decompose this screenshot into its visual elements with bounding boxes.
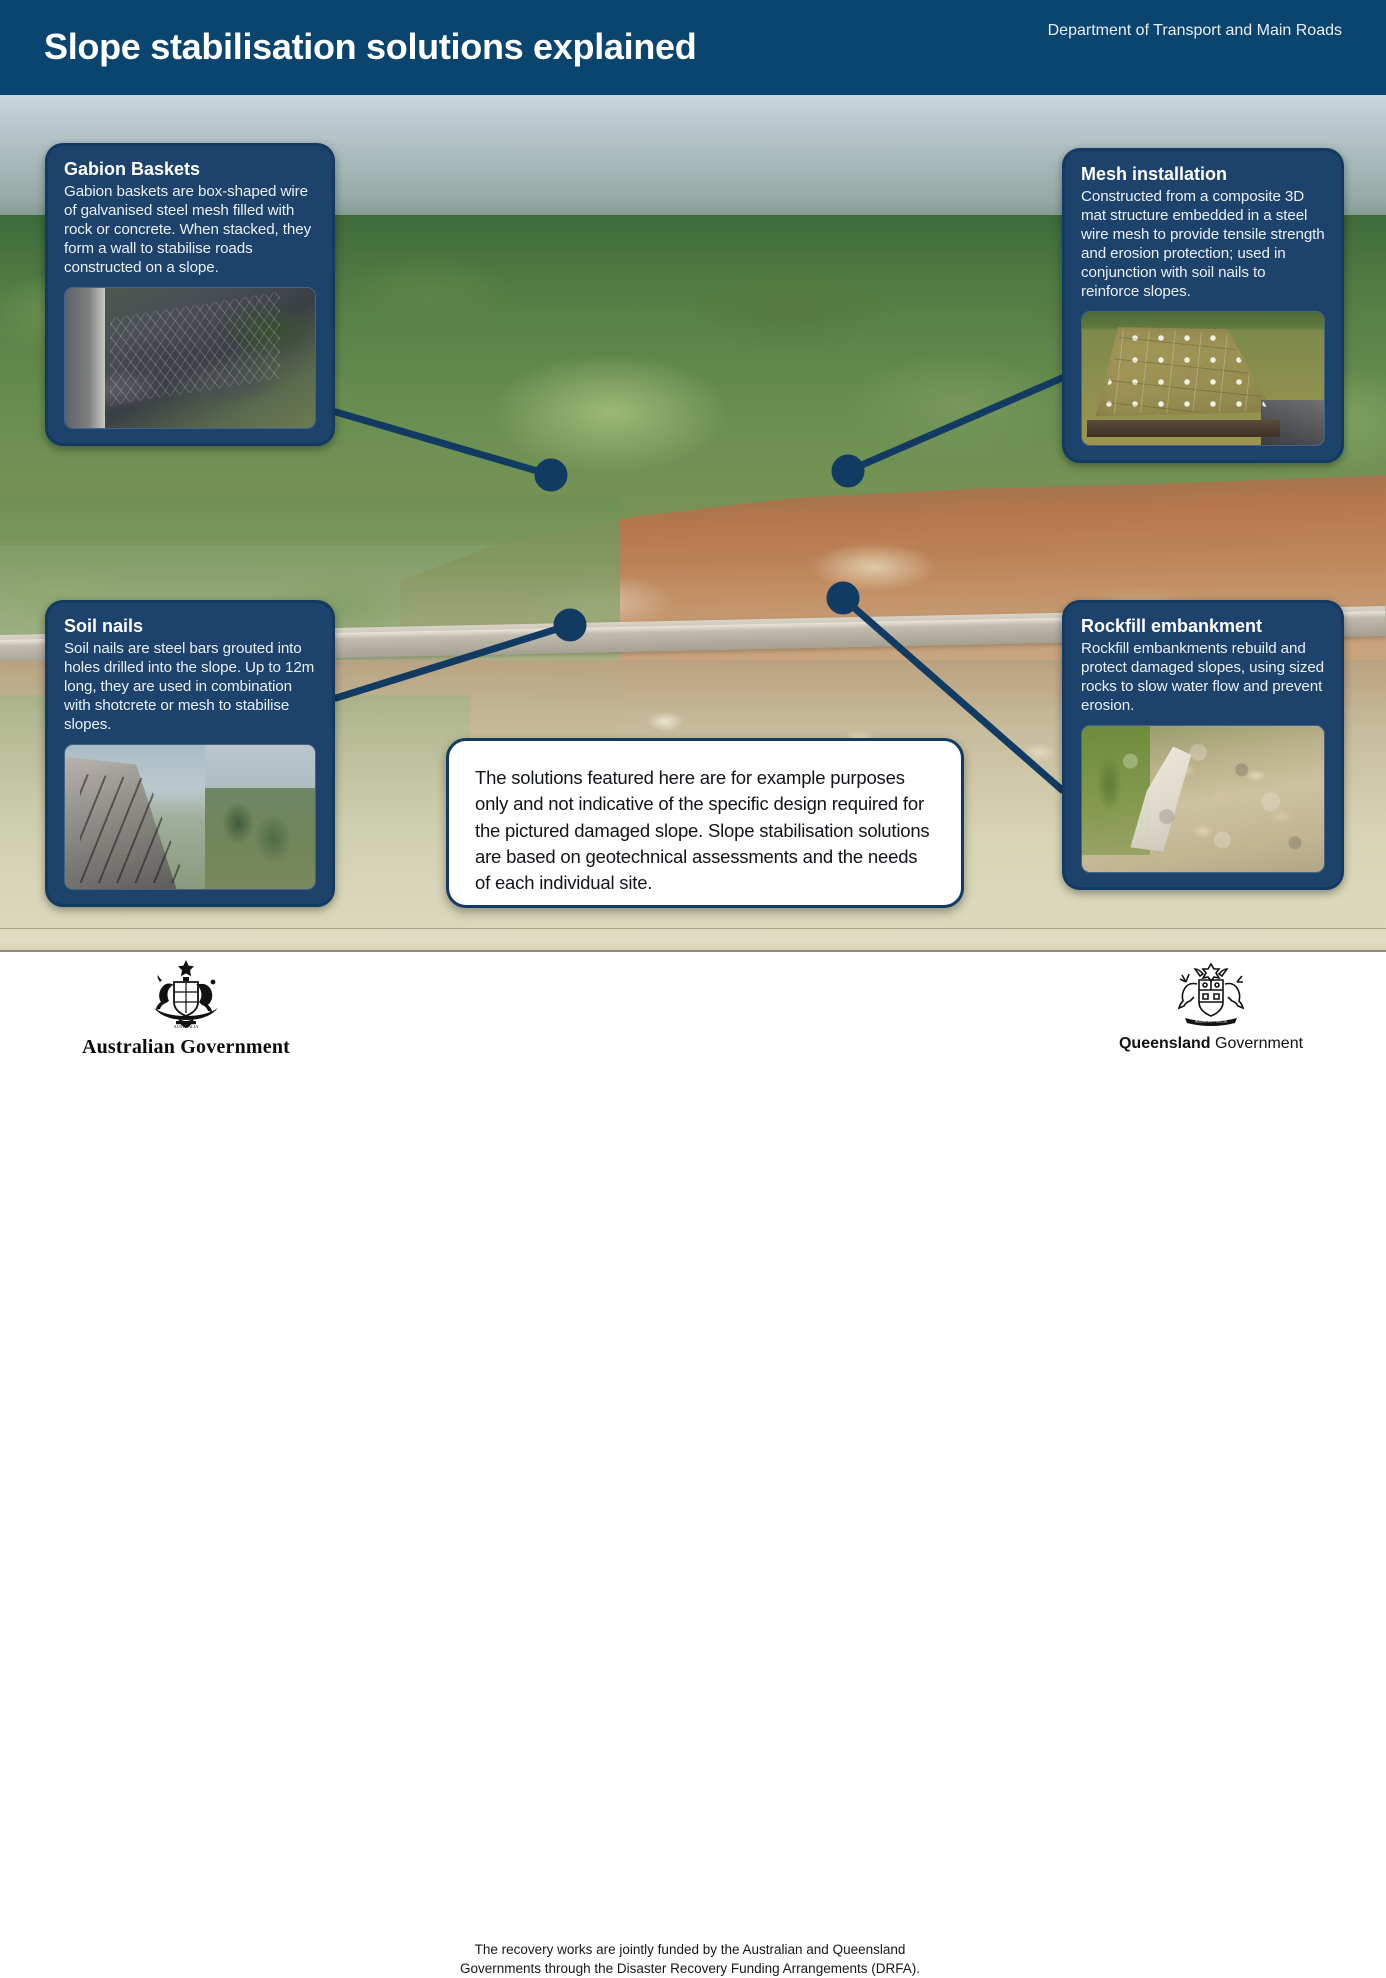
rockfill-embankment-image	[1082, 726, 1324, 872]
callout-title-gabion-baskets: Gabion Baskets	[64, 158, 316, 181]
funding-statement: The recovery works are jointly funded by…	[455, 1940, 925, 1978]
callout-body-soil-nails: Soil nails are steel bars grouted into h…	[64, 639, 316, 735]
mesh-photo-toe	[1087, 420, 1281, 437]
callout-photo-soil-nails	[64, 744, 316, 890]
callout-card-rockfill-embankment[interactable]: Rockfill embankment Rockfill embankments…	[1062, 600, 1344, 890]
callout-photo-gabion-baskets	[64, 287, 316, 429]
australian-government-logo: AUSTRALIA Australian Government	[56, 958, 316, 1059]
callout-title-soil-nails: Soil nails	[64, 615, 316, 638]
page-footer: AUSTRALIA Australian Government The reco…	[0, 952, 1386, 1071]
callout-card-gabion-baskets[interactable]: Gabion Baskets Gabion baskets are box-sh…	[45, 143, 335, 446]
queensland-government-logo: AUDAX AT FIDELIS Queensland Government	[1086, 960, 1336, 1053]
commonwealth-coat-of-arms-icon: AUSTRALIA	[138, 958, 234, 1034]
queensland-government-label-bold: Queensland	[1119, 1035, 1211, 1052]
disclaimer-text: The solutions featured here are for exam…	[475, 765, 935, 896]
callout-body-rockfill-embankment: Rockfill embankments rebuild and protect…	[1081, 639, 1325, 716]
page-header: Slope stabilisation solutions explained …	[0, 0, 1386, 95]
mesh-installed-slope-image	[1082, 312, 1324, 445]
australian-government-label: Australian Government	[56, 1036, 316, 1059]
queensland-coat-of-arms-icon: AUDAX AT FIDELIS	[1167, 960, 1255, 1032]
department-name: Department of Transport and Main Roads	[1048, 22, 1342, 40]
svg-text:AUDAX AT FIDELIS: AUDAX AT FIDELIS	[1195, 1019, 1228, 1023]
callout-card-mesh-installation[interactable]: Mesh installation Constructed from a com…	[1062, 148, 1344, 463]
callout-body-gabion-baskets: Gabion baskets are box-shaped wire of ga…	[64, 182, 316, 278]
queensland-government-label: Queensland Government	[1086, 1035, 1336, 1053]
callout-title-mesh-installation: Mesh installation	[1081, 163, 1325, 186]
queensland-government-label-rest: Government	[1211, 1035, 1303, 1052]
soil-nails-damaged-road-image	[65, 745, 315, 889]
callout-photo-rockfill-embankment	[1081, 725, 1325, 873]
callout-photo-mesh-installation	[1081, 311, 1325, 446]
disclaimer-box: The solutions featured here are for exam…	[446, 738, 964, 908]
callout-title-rockfill-embankment: Rockfill embankment	[1081, 615, 1325, 638]
callout-body-mesh-installation: Constructed from a composite 3D mat stru…	[1081, 187, 1325, 302]
footer-divider-strip	[0, 928, 1386, 952]
gabion-basket-wall-image	[65, 288, 315, 428]
rockfill-photo-rocks	[1082, 726, 1324, 872]
soilnails-photo-trees	[205, 788, 315, 889]
svg-text:AUSTRALIA: AUSTRALIA	[174, 1024, 200, 1029]
page-title: Slope stabilisation solutions explained	[44, 26, 696, 68]
callout-card-soil-nails[interactable]: Soil nails Soil nails are steel bars gro…	[45, 600, 335, 907]
